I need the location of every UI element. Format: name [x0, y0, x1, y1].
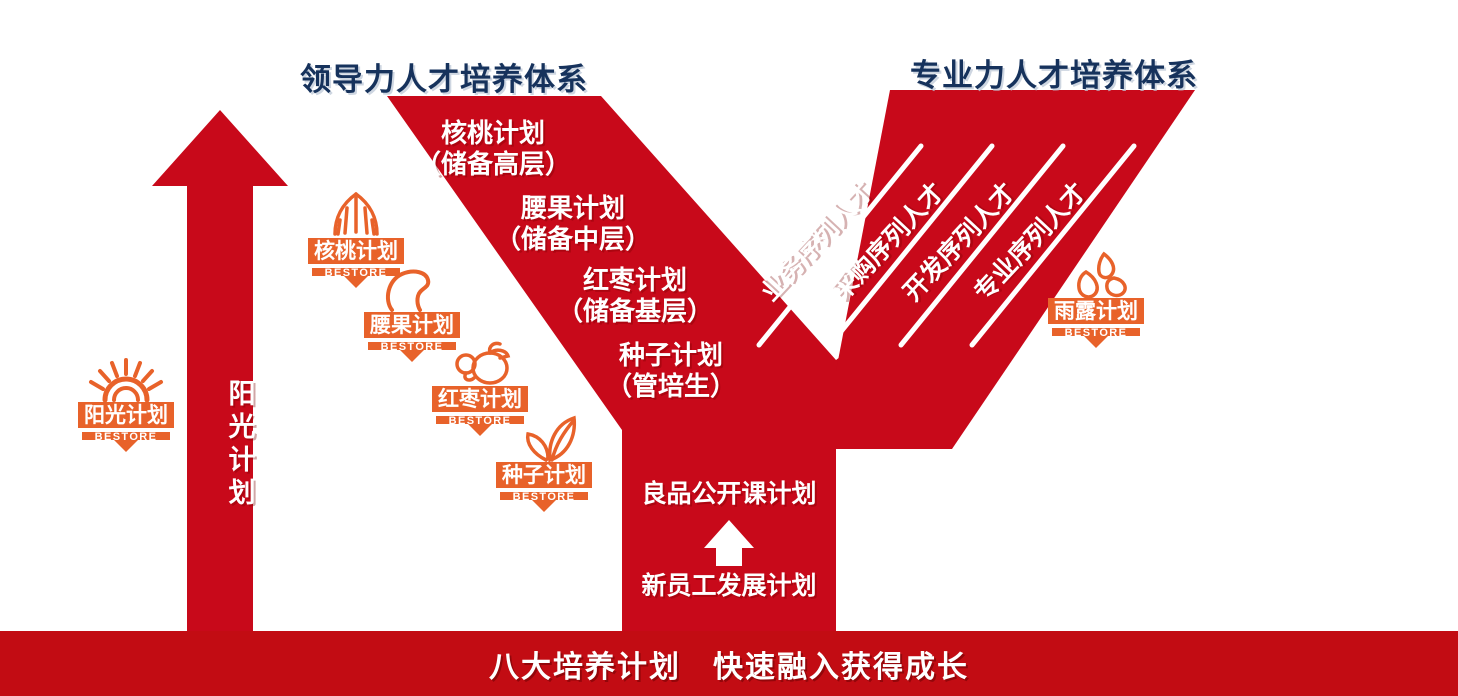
sun-rays-icon	[91, 360, 161, 400]
badge-cashew-label: 腰果计划	[369, 314, 454, 337]
leadership-system-title: 领导力人才培养体系	[300, 54, 588, 99]
badge-dew-ribbon: BESTORE	[1065, 327, 1128, 339]
diagram-canvas: 领导力人才培养体系 专业力人才培养体系 阳 光 计 划 核桃计划 （储备高层） …	[0, 0, 1458, 696]
plan-label-walnut-name: 核桃计划	[441, 118, 545, 148]
sunshine-plan-vertical-label: 阳 光 计 划	[214, 378, 270, 510]
plan-label-seed: 种子计划 （管培生）	[576, 340, 766, 401]
plan-label-walnut-sub: （储备高层）	[398, 149, 588, 180]
sunshine-char-1: 阳	[214, 378, 270, 411]
badge-dew-label: 雨露计划	[1054, 300, 1138, 323]
badge-walnut-label: 核桃计划	[314, 239, 398, 263]
badge-sunshine-label: 阳光计划	[84, 404, 168, 427]
plan-label-cashew-name: 腰果计划	[521, 193, 625, 223]
plan-label-cashew: 腰果计划 （储备中层）	[478, 193, 668, 254]
plan-label-cashew-sub: （储备中层）	[478, 224, 668, 255]
bottom-banner-text: 八大培养计划 快速融入获得成长	[0, 631, 1458, 696]
badge-sunshine-plan[interactable]: 阳光计划 BESTORE	[72, 352, 180, 456]
badge-seed-ribbon: BESTORE	[513, 491, 576, 503]
sunshine-char-2: 光	[214, 411, 270, 444]
sprout-leaf-icon	[528, 418, 575, 460]
stem-label-newcomer: 新员工发展计划	[626, 566, 832, 602]
professional-system-title: 专业力人才培养体系	[910, 50, 1198, 95]
sunshine-char-3: 计	[214, 444, 270, 477]
bottom-banner: 八大培养计划 快速融入获得成长	[0, 631, 1458, 696]
plan-label-jujube: 红枣计划 （储备基层）	[540, 265, 730, 326]
badge-jujube-label: 红枣计划	[438, 387, 522, 411]
cashew-icon	[388, 272, 428, 310]
plan-label-seed-name: 种子计划	[619, 340, 723, 370]
sunshine-char-4: 划	[214, 477, 270, 510]
walnut-icon	[335, 194, 377, 234]
badge-seed-plan[interactable]: 种子计划 BESTORE	[490, 412, 598, 516]
plan-label-seed-sub: （管培生）	[576, 371, 766, 402]
badge-dew-plan[interactable]: 雨露计划 BESTORE	[1042, 248, 1150, 352]
jujube-icon	[457, 343, 508, 383]
stem-label-open-course: 良品公开课计划	[626, 474, 832, 510]
plan-label-jujube-sub: （储备基层）	[540, 296, 730, 327]
badge-seed-label: 种子计划	[501, 464, 586, 487]
dew-drops-icon	[1079, 254, 1125, 297]
plan-label-walnut: 核桃计划 （储备高层）	[398, 118, 588, 179]
badge-sunshine-ribbon: BESTORE	[95, 431, 158, 443]
plan-label-jujube-name: 红枣计划	[583, 265, 687, 295]
